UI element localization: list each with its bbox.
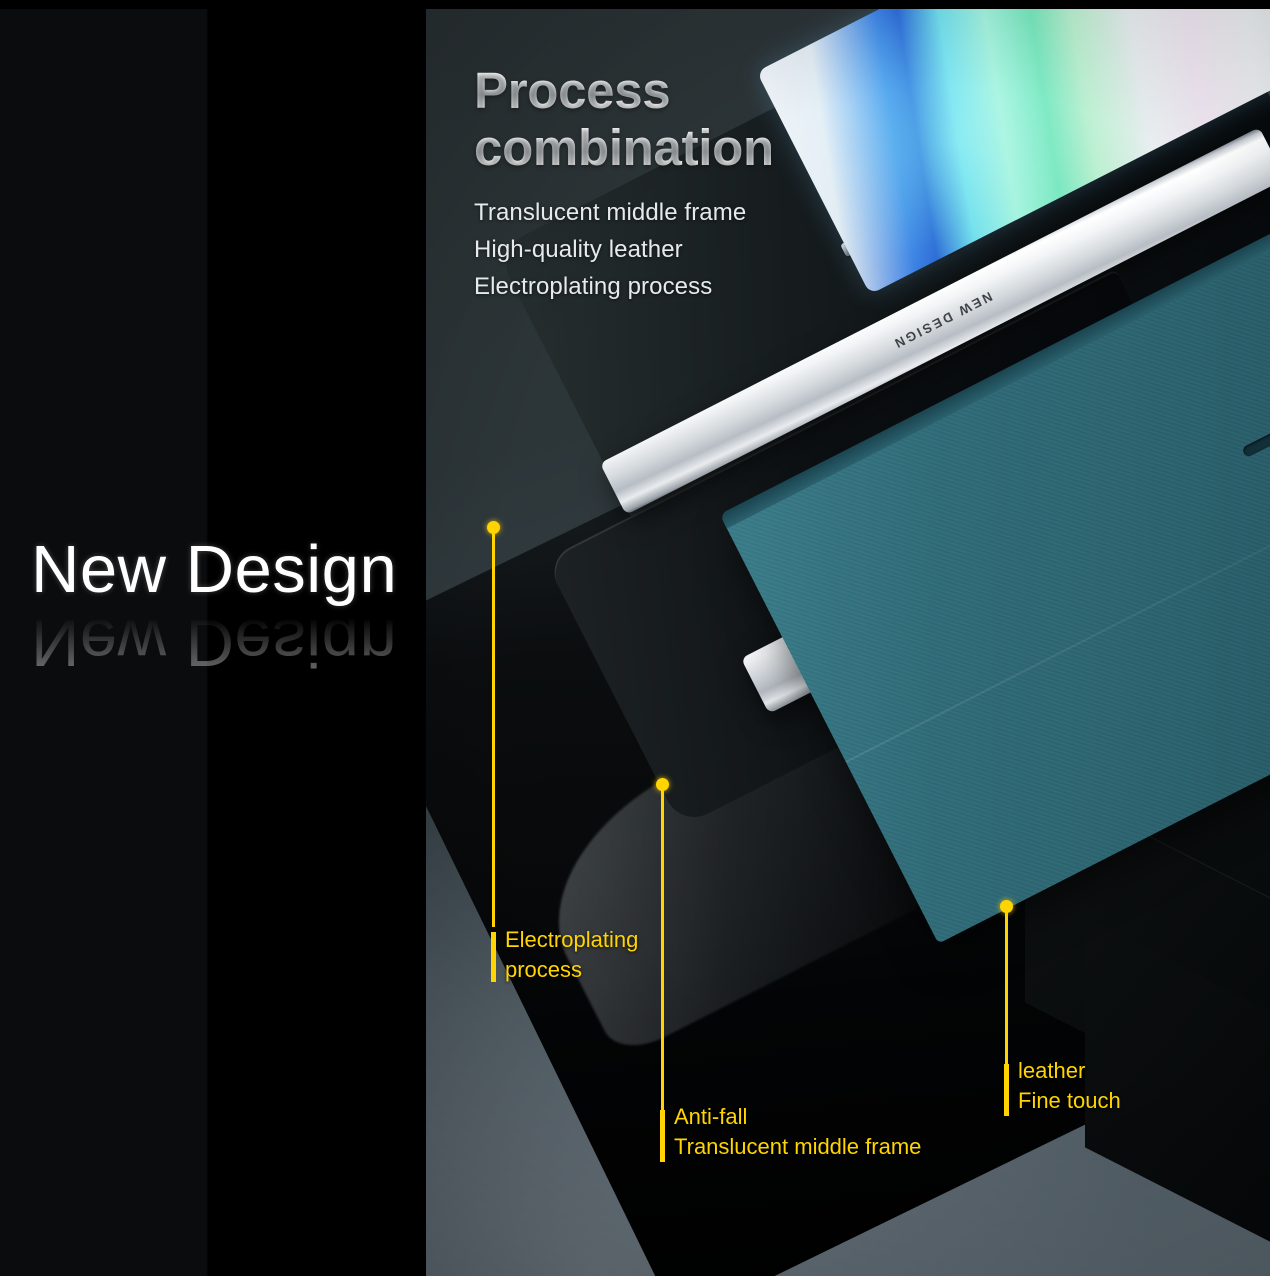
top-black-bar xyxy=(0,0,1270,9)
bullet-translucent-frame: Translucent middle frame xyxy=(474,194,904,231)
leather-speaker-slot xyxy=(1241,397,1270,458)
callout-stem-antifall xyxy=(661,784,664,1114)
headline-line-2: combination xyxy=(474,119,904,176)
new-design-lockup: New Design New Design xyxy=(31,536,431,696)
leather-crease xyxy=(845,416,1270,763)
headline-block: Process combination Translucent middle f… xyxy=(474,62,904,305)
bullet-electroplating: Electroplating process xyxy=(474,268,904,305)
callout-stem-leather xyxy=(1005,906,1008,1066)
callout-label-antifall: Anti-fall Translucent middle frame xyxy=(674,1102,921,1162)
left-title-panel: New Design New Design xyxy=(0,0,425,1276)
bullet-leather: High-quality leather xyxy=(474,231,904,268)
callout-label-line-1: leather xyxy=(1018,1056,1121,1086)
headline-bullets: Translucent middle frame High-quality le… xyxy=(474,194,904,305)
callout-tick-electroplating xyxy=(491,932,496,982)
callout-label-line-1: Anti-fall xyxy=(674,1102,921,1132)
callout-label-line-2: process xyxy=(505,955,638,985)
new-design-reflection: New Design xyxy=(31,609,431,676)
callout-label-line-2: Fine touch xyxy=(1018,1086,1121,1116)
callout-label-electroplating: Electroplating process xyxy=(505,925,638,985)
panel-divider xyxy=(423,0,426,1276)
new-design-title: New Design xyxy=(31,536,431,603)
callout-stem-electroplating xyxy=(492,527,495,927)
headline-line-1: Process xyxy=(474,62,904,119)
callout-label-line-2: Translucent middle frame xyxy=(674,1132,921,1162)
callout-tick-antifall xyxy=(660,1110,665,1162)
callout-label-line-1: Electroplating xyxy=(505,925,638,955)
product-marketing-banner: NEW DESIGN New Design New Design Process… xyxy=(0,0,1270,1276)
callout-tick-leather xyxy=(1004,1064,1009,1116)
callout-label-leather: leather Fine touch xyxy=(1018,1056,1121,1116)
